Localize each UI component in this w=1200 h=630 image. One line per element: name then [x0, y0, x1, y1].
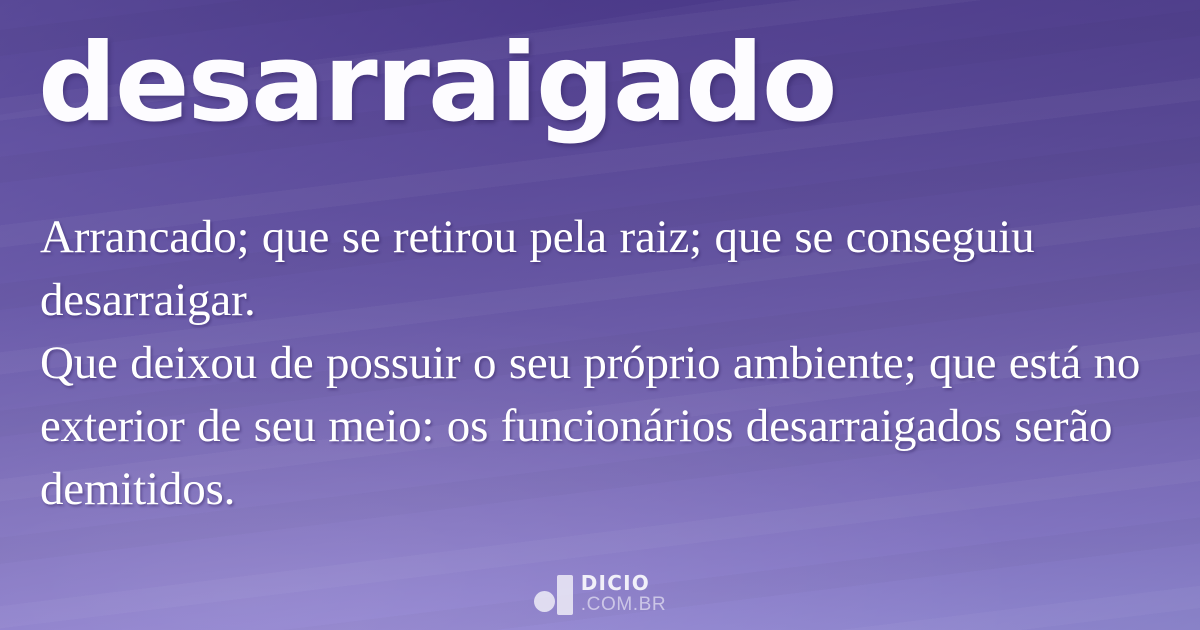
dicio-logo-mark-icon [534, 572, 572, 614]
definition-item-1: Arrancado; que se retirou pela raiz; que… [40, 206, 1170, 332]
logo-brand-name: DICIO [581, 573, 666, 593]
definition-list: Arrancado; que se retirou pela raiz; que… [40, 206, 1170, 521]
headword-title: desarraigado [38, 26, 835, 143]
logo-domain-suffix: .COM.BR [581, 595, 666, 614]
logo-bar-shape [557, 575, 573, 615]
dictionary-card: desarraigado Arrancado; que se retirou p… [0, 0, 1200, 630]
dicio-logo[interactable]: DICIO .COM.BR [0, 572, 1200, 614]
logo-circle-shape [534, 591, 555, 612]
definition-item-2: Que deixou de possuir o seu próprio ambi… [40, 332, 1170, 521]
card-content: desarraigado Arrancado; que se retirou p… [0, 0, 1200, 630]
dicio-logo-text: DICIO .COM.BR [581, 573, 666, 614]
